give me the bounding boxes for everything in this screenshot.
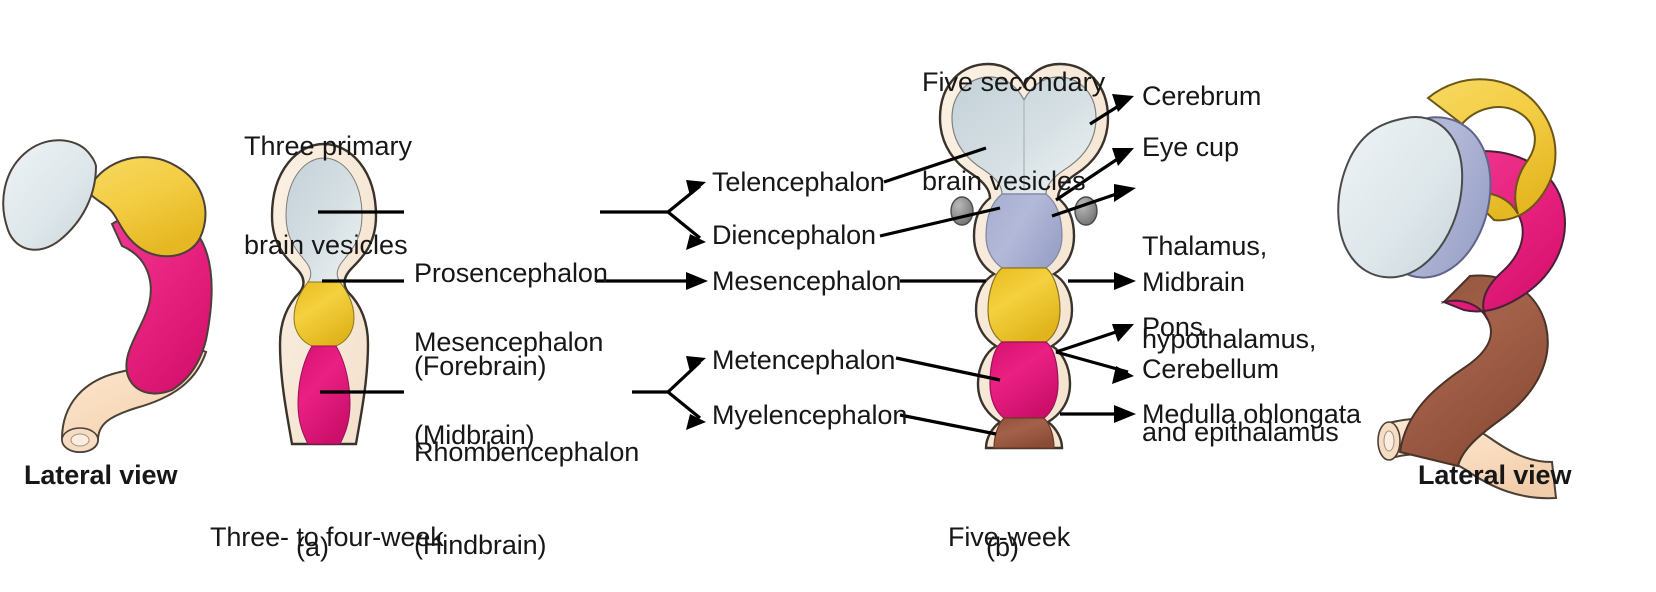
caption-lateral-view-left: Lateral view [24, 460, 177, 491]
label-telencephalon: Telencephalon [712, 167, 885, 198]
label-mesencephalon-secondary: Mesencephalon [712, 266, 901, 297]
left-lateral-view-illustration [3, 140, 211, 452]
heading-line-2: brain vesicles [922, 165, 1105, 198]
brain-vesicle-figure: Three primary brain vesicles Five second… [0, 0, 1656, 592]
label-cerebrum: Cerebrum [1142, 81, 1261, 112]
label-metencephalon: Metencephalon [712, 345, 895, 376]
label-rhombencephalon-name: Rhombencephalon [414, 437, 639, 468]
heading-three-primary-vesicles: Three primary brain vesicles [244, 64, 412, 328]
label-diencephalon: Diencephalon [712, 220, 876, 251]
heading-line-1: Three primary [244, 130, 412, 163]
caption-embryo-a: Three- to four-week embryo [210, 460, 444, 592]
caption-lateral-view-right: Lateral view [1418, 460, 1571, 491]
label-thalamus-line-1: Thalamus, [1142, 231, 1339, 262]
heading-five-secondary-vesicles: Five secondary brain vesicles [922, 0, 1105, 264]
label-medulla-oblongata: Medulla oblongata [1142, 399, 1361, 430]
label-mesencephalon-name: Mesencephalon [414, 327, 603, 358]
label-rhombencephalon: Rhombencephalon (Hindbrain) [414, 375, 639, 592]
caption-embryo-b: Five-week embryo [948, 460, 1070, 592]
label-myelencephalon: Myelencephalon [712, 400, 907, 431]
panel-letter-a: (a) [296, 532, 329, 563]
right-lateral-view-illustration [1338, 79, 1565, 498]
label-cerebellum: Cerebellum [1142, 354, 1279, 385]
heading-line-2: brain vesicles [244, 229, 412, 262]
label-eye-cup: Eye cup [1142, 132, 1239, 163]
label-rhombencephalon-common: (Hindbrain) [414, 530, 639, 561]
panel-letter-b: (b) [986, 532, 1019, 563]
label-pons: Pons [1142, 312, 1203, 343]
heading-line-1: Five secondary [922, 66, 1105, 99]
label-midbrain: Midbrain [1142, 267, 1245, 298]
